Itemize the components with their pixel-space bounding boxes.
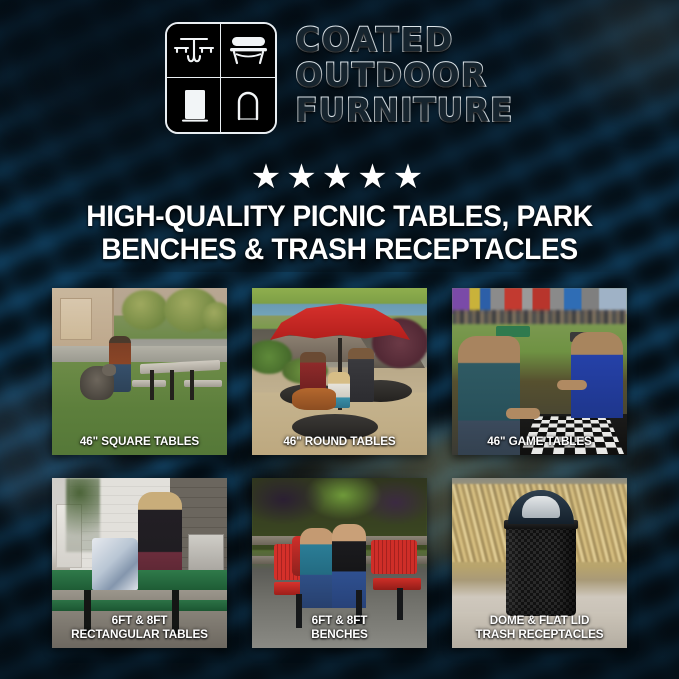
caption-line-1: 46" GAME TABLES	[487, 434, 592, 448]
bench-icon	[221, 24, 275, 78]
brand-name-line-2: OUTDOOR	[295, 59, 513, 93]
product-photo-square-tables	[52, 288, 227, 455]
arch-bike-rack-icon	[221, 78, 275, 132]
brand-name-line-1: COATED	[295, 23, 513, 58]
product-grid: 46" SQUARE TABLES 46"	[52, 288, 627, 648]
star-icon-5: ★	[393, 160, 428, 194]
caption-line-1: 46" ROUND TABLES	[283, 434, 395, 448]
brand-logo-mark	[165, 22, 277, 134]
star-icon-3: ★	[322, 160, 357, 194]
caption-line-2: TRASH RECEPTACLES	[460, 628, 619, 641]
product-caption-rectangular-tables: 6FT & 8FT RECTANGULAR TABLES	[56, 614, 222, 641]
product-caption-trash-receptacles: DOME & FLAT LID TRASH RECEPTACLES	[456, 614, 622, 641]
caption-line-2: RECTANGULAR TABLES	[60, 628, 219, 641]
headline: HIGH-QUALITY PICNIC TABLES, PARK BENCHES…	[20, 200, 658, 266]
star-icon-4: ★	[357, 160, 392, 194]
trash-receptacle-icon	[167, 78, 221, 132]
product-photo-game-tables	[452, 288, 627, 455]
caption-line-1: 6FT & 8FT	[312, 613, 368, 627]
brand-wordmark: COATED OUTDOOR FURNITURE	[295, 22, 513, 128]
product-photo-round-tables	[252, 288, 427, 455]
product-card-round-tables[interactable]: 46" ROUND TABLES	[252, 288, 427, 455]
star-icon-1: ★	[251, 160, 286, 194]
caption-line-1: 46" SQUARE TABLES	[80, 434, 199, 448]
headline-line-1: HIGH-QUALITY PICNIC TABLES, PARK	[86, 200, 593, 233]
picnic-table-icon	[167, 24, 221, 78]
product-caption-round-tables: 46" ROUND TABLES	[256, 435, 422, 448]
product-card-rectangular-tables[interactable]: 6FT & 8FT RECTANGULAR TABLES	[52, 478, 227, 648]
caption-line-2: BENCHES	[260, 628, 419, 641]
star-icon-2: ★	[286, 160, 321, 194]
product-caption-square-tables: 46" SQUARE TABLES	[56, 435, 222, 448]
caption-line-1: DOME & FLAT LID	[490, 613, 590, 627]
brand-header: COATED OUTDOOR FURNITURE	[0, 22, 679, 134]
caption-line-1: 6FT & 8FT	[112, 613, 168, 627]
promotional-poster: COATED OUTDOOR FURNITURE ★★★★★ HIGH-QUAL…	[0, 0, 679, 679]
product-caption-benches: 6FT & 8FT BENCHES	[256, 614, 422, 641]
product-caption-game-tables: 46" GAME TABLES	[456, 435, 622, 448]
product-card-square-tables[interactable]: 46" SQUARE TABLES	[52, 288, 227, 455]
product-card-benches[interactable]: 6FT & 8FT BENCHES	[252, 478, 427, 648]
brand-name-line-3: FURNITURE	[295, 94, 513, 128]
headline-line-2: BENCHES & TRASH RECEPTACLES	[20, 233, 658, 266]
product-card-trash-receptacles[interactable]: DOME & FLAT LID TRASH RECEPTACLES	[452, 478, 627, 648]
product-card-game-tables[interactable]: 46" GAME TABLES	[452, 288, 627, 455]
star-rating: ★★★★★	[0, 160, 679, 194]
